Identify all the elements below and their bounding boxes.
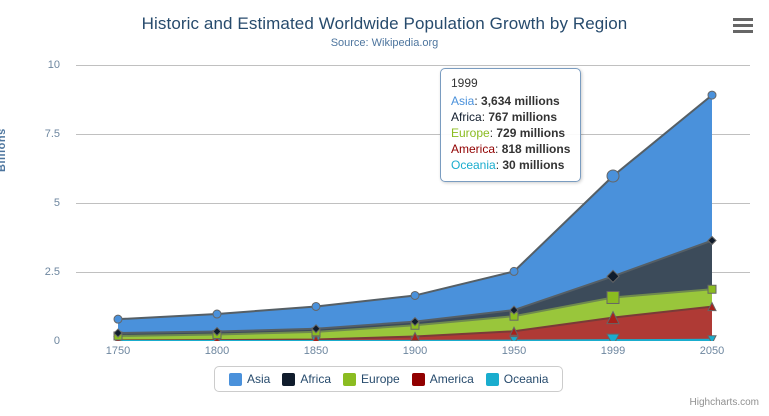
legend-label: Europe [361,372,400,386]
y-axis-tick-label: 5 [0,198,60,209]
marker-asia-2050 [708,91,716,99]
marker-europe-2050 [708,285,716,293]
legend-swatch-icon [229,373,242,386]
legend-item-africa[interactable]: Africa [282,372,331,386]
legend-item-oceania[interactable]: Oceania [486,372,549,386]
y-axis-tick-label: 10 [0,60,60,71]
chart-title: Historic and Estimated Worldwide Populat… [0,14,769,34]
y-axis-tick-label: 0 [0,336,60,347]
tooltip-series-name: Africa [451,110,482,124]
highcharts-container: Historic and Estimated Worldwide Populat… [0,0,769,416]
x-axis-tick-label: 1800 [177,345,257,357]
x-axis-tick-label: 1750 [78,345,158,357]
tooltip-row: Asia: 3,634 millions [451,93,570,109]
tooltip-series-name: Europe [451,126,490,140]
x-axis-tick-label: 1850 [276,345,356,357]
hamburger-bar-1 [733,18,753,21]
chart-legend[interactable]: AsiaAfricaEuropeAmericaOceania [214,366,563,392]
tooltip-series-name: Asia [451,94,474,108]
hamburger-bar-2 [733,24,753,27]
legend-item-america[interactable]: America [412,372,474,386]
legend-swatch-icon [282,373,295,386]
tooltip-series-value: 818 millions [502,142,571,156]
y-axis-tick-label: 2.5 [0,267,60,278]
legend-label: America [430,372,474,386]
tooltip-series-value: 729 millions [496,126,565,140]
plot-area [76,65,750,341]
legend-item-europe[interactable]: Europe [343,372,400,386]
legend-swatch-icon [412,373,425,386]
x-axis-tick-label: 1900 [375,345,455,357]
tooltip-series-value: 3,634 millions [481,94,560,108]
tooltip-separator: : [495,142,502,156]
marker-asia-1900 [411,291,419,299]
marker-asia-1800 [213,310,221,318]
hamburger-menu-icon[interactable] [730,15,756,37]
x-axis-tick-label: 2050 [672,345,752,357]
tooltip-rows: Asia: 3,634 millionsAfrica: 767 millions… [451,93,570,173]
tooltip-row: Oceania: 30 millions [451,157,570,173]
tooltip-separator: : [474,94,481,108]
chart-plot-svg [76,65,750,341]
credits-link[interactable]: Highcharts.com [690,397,759,408]
marker-asia-1750 [114,315,122,323]
legend-label: Africa [300,372,331,386]
legend-swatch-icon [486,373,499,386]
tooltip-row: Europe: 729 millions [451,125,570,141]
chart-tooltip: 1999 Asia: 3,634 millionsAfrica: 767 mil… [440,68,581,182]
marker-europe-1999 [607,291,619,303]
tooltip-row: America: 818 millions [451,141,570,157]
x-axis-tick-label: 1999 [573,345,653,357]
tooltip-row: Africa: 767 millions [451,109,570,125]
x-axis-tick-label: 1950 [474,345,554,357]
marker-asia-1999 [607,170,619,182]
tooltip-series-name: Oceania [451,158,496,172]
legend-item-asia[interactable]: Asia [229,372,270,386]
tooltip-series-value: 767 millions [488,110,557,124]
tooltip-header: 1999 [451,76,570,90]
legend-label: Asia [247,372,270,386]
hamburger-bar-3 [733,30,753,33]
chart-subtitle: Source: Wikipedia.org [0,37,769,49]
legend-label: Oceania [504,372,549,386]
marker-asia-1850 [312,302,320,310]
tooltip-series-name: America [451,142,495,156]
legend-swatch-icon [343,373,356,386]
tooltip-series-value: 30 millions [502,158,564,172]
y-axis-tick-label: 7.5 [0,129,60,140]
marker-asia-1950 [510,267,518,275]
